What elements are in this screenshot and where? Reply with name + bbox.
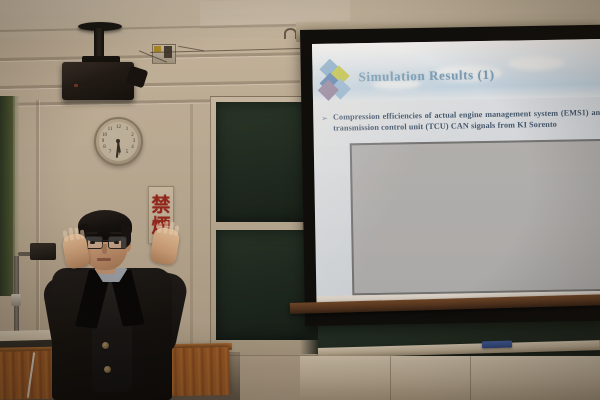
presentation-slide: Simulation Results (1) ➢ Compression eff…: [312, 39, 600, 308]
presenter-eye-left: [90, 241, 95, 244]
jacket-button: [104, 366, 111, 373]
slide-bullet-row: ➢ Compression efficiencies of actual eng…: [321, 107, 600, 134]
cabinet-seam: [390, 356, 391, 400]
presenter-eye-right: [114, 241, 119, 244]
projector-mount-pole: [94, 28, 104, 58]
clock-numeral: 10: [101, 133, 109, 139]
finger: [63, 230, 69, 241]
clock-numeral: 8: [101, 145, 109, 151]
presenter: [34, 210, 214, 400]
finger: [157, 223, 163, 234]
presenter-nose: [102, 244, 107, 254]
chalkboard-eraser: [482, 341, 512, 349]
presenter-hand-right: [149, 226, 180, 266]
glasses-bridge: [101, 240, 108, 241]
slide-bullet-text: Compression efficiencies of actual engin…: [333, 107, 600, 134]
bullet-arrow-icon: ➢: [321, 112, 328, 134]
lower-cabinet: [300, 356, 600, 400]
cube-diamond-logo-icon: [318, 59, 353, 98]
clock-numeral: 9: [99, 139, 107, 145]
lecture-hall-photo: 12 1 2 3 4 5 6 7 8 9 10 11 禁 煙: [0, 0, 600, 400]
clock-numeral: 11: [106, 127, 114, 133]
clock-center-pin: [116, 139, 120, 143]
wall-clock: 12 1 2 3 4 5 6 7 8 9 10 11: [94, 117, 143, 166]
finger: [68, 227, 74, 240]
camera-stand-knob: [11, 294, 21, 306]
projector-icon: [62, 62, 134, 100]
slide-title: Simulation Results (1): [358, 67, 494, 85]
projection-screen-surface: Simulation Results (1) ➢ Compression eff…: [312, 39, 600, 308]
clock-numeral: 5: [123, 150, 131, 156]
finger: [163, 221, 169, 234]
cabinet-seam: [470, 356, 471, 400]
slide-content-placeholder: [350, 139, 600, 295]
jacket-button: [102, 342, 109, 349]
presenter-mouth: [97, 258, 111, 261]
clock-numeral: 12: [115, 125, 123, 131]
projector-power-led: [74, 84, 78, 87]
finger: [174, 225, 180, 236]
